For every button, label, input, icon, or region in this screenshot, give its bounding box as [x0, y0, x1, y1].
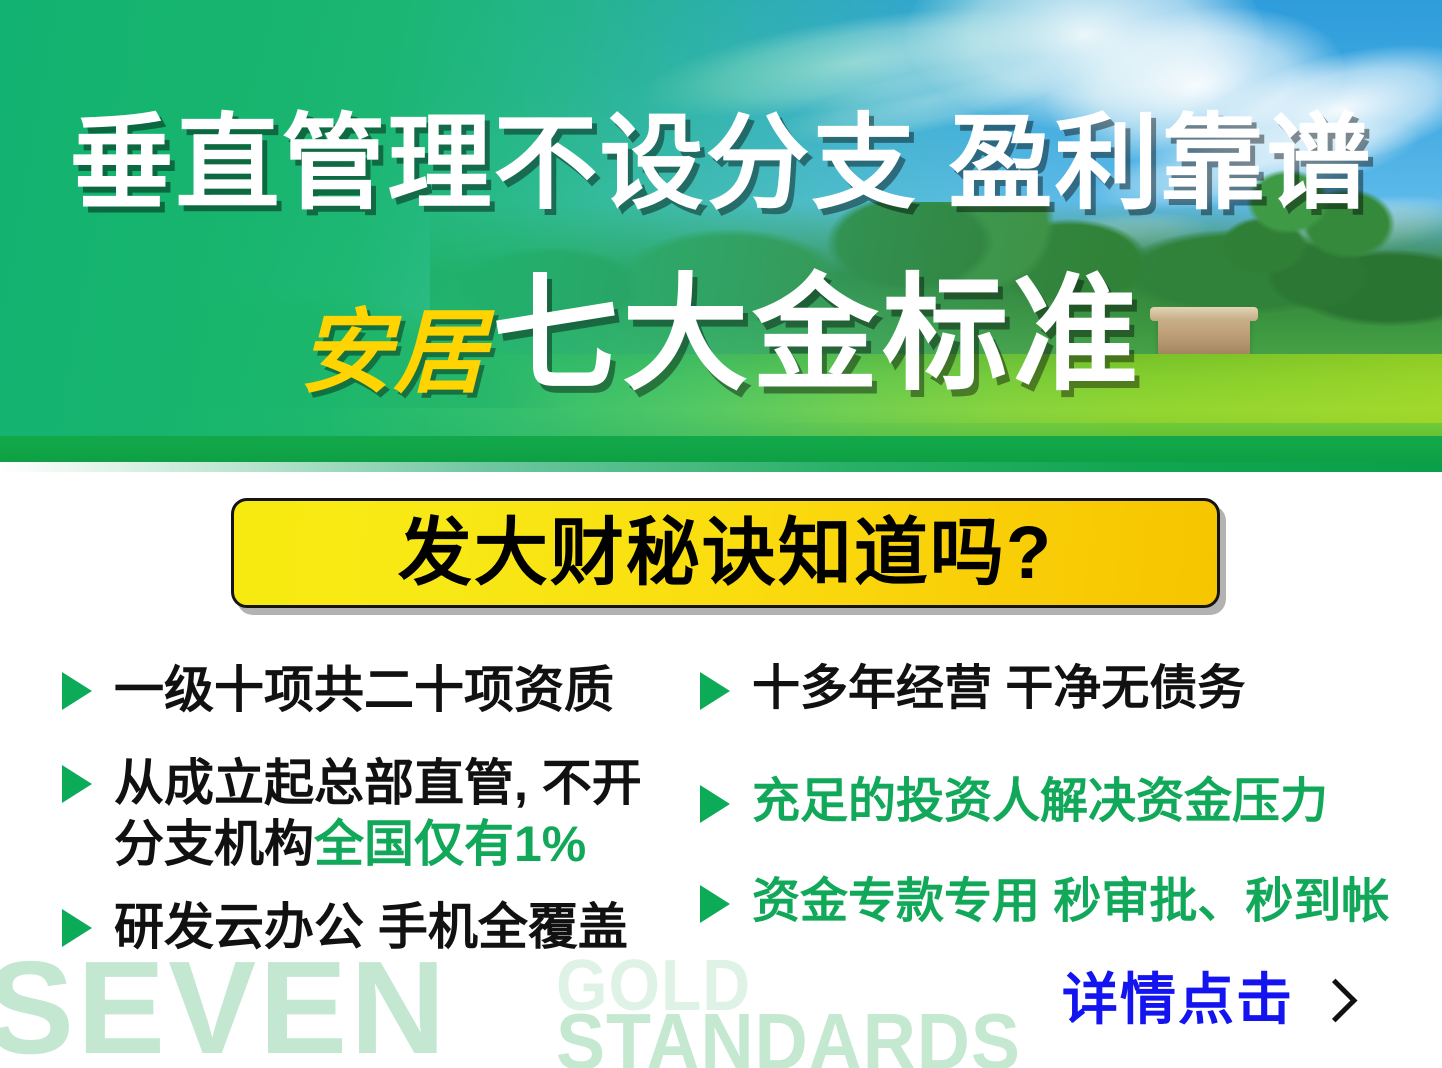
list-item: 研发云办公 手机全覆盖	[62, 897, 682, 958]
feature-text: 十多年经营 干净无债务	[752, 660, 1245, 719]
triangle-right-icon	[62, 765, 92, 803]
details-link-label: 详情点击	[1062, 972, 1294, 1028]
hero-headline-secondary: 安居 七大金标准	[0, 272, 1442, 399]
hero-headline-primary: 垂直管理不设分支 盈利靠谱	[0, 112, 1442, 216]
list-item: 从成立起总部直管, 不开 分支机构全国仅有1%	[62, 753, 682, 875]
feature-text: 从成立起总部直管, 不开 分支机构全国仅有1%	[114, 753, 642, 875]
list-item: 十多年经营 干净无债务	[700, 660, 1400, 719]
triangle-right-icon	[62, 909, 92, 947]
triangle-right-icon	[700, 785, 730, 823]
list-item: 充足的投资人解决资金压力	[700, 773, 1400, 832]
feature-column-left: 一级十项共二十项资质 从成立起总部直管, 不开 分支机构全国仅有1% 研发云办公…	[62, 660, 682, 984]
hero-headline-brand: 安居	[300, 302, 488, 404]
list-item: 资金专款专用 秒审批、秒到帐	[700, 873, 1400, 932]
hero-headline-main: 七大金标准	[492, 264, 1142, 405]
details-link[interactable]: 详情点击	[1062, 972, 1351, 1028]
feature-text: 研发云办公 手机全覆盖	[114, 897, 628, 958]
feature-text: 资金专款专用 秒审批、秒到帐	[752, 873, 1389, 932]
feature-list: 一级十项共二十项资质 从成立起总部直管, 不开 分支机构全国仅有1% 研发云办公…	[0, 660, 1442, 1000]
feature-text: 充足的投资人解决资金压力	[752, 773, 1328, 832]
hero-green-band	[0, 436, 1442, 462]
feature-text-line2-plain: 分支机构	[114, 816, 314, 872]
feature-text-line2-highlight: 全国仅有1%	[314, 816, 586, 872]
hero-banner: 垂直管理不设分支 盈利靠谱 安居 七大金标准	[0, 0, 1442, 462]
feature-text-line1: 从成立起总部直管, 不开	[114, 755, 642, 811]
highlight-banner-label: 发大财秘诀知道吗?	[398, 516, 1053, 590]
feature-text: 一级十项共二十项资质	[114, 660, 614, 721]
triangle-right-icon	[700, 885, 730, 923]
list-item: 一级十项共二十项资质	[62, 660, 682, 721]
section-divider	[0, 462, 1442, 472]
watermark-standards: STANDARDS	[556, 1002, 1021, 1068]
feature-column-right: 十多年经营 干净无债务 充足的投资人解决资金压力 资金专款专用 秒审批、秒到帐	[700, 660, 1400, 958]
triangle-right-icon	[62, 672, 92, 710]
highlight-banner[interactable]: 发大财秘诀知道吗?	[231, 498, 1220, 608]
triangle-right-icon	[700, 672, 730, 710]
chevron-right-icon	[1314, 978, 1358, 1022]
